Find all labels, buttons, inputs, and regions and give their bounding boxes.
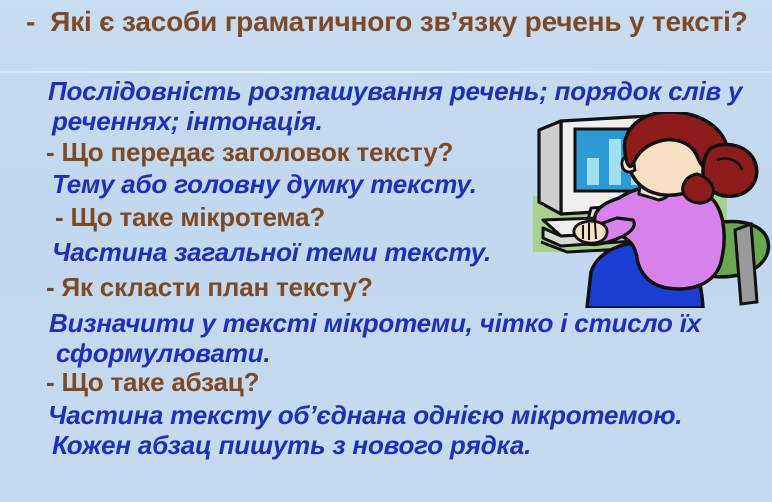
title-divider — [0, 71, 772, 73]
answer-line-4: Визначити у тексті мікротеми, чітко і ст… — [0, 308, 772, 368]
answer-line-5: Частина тексту об’єднана однією мікротем… — [0, 400, 772, 460]
question-line-5: - Що таке абзац? — [0, 368, 772, 397]
question-line-1: - Які є засоби граматичного зв’язку рече… — [0, 6, 772, 37]
slide-canvas: - Які є засоби граматичного зв’язку рече… — [0, 0, 772, 502]
woman-at-computer-icon — [521, 112, 772, 308]
